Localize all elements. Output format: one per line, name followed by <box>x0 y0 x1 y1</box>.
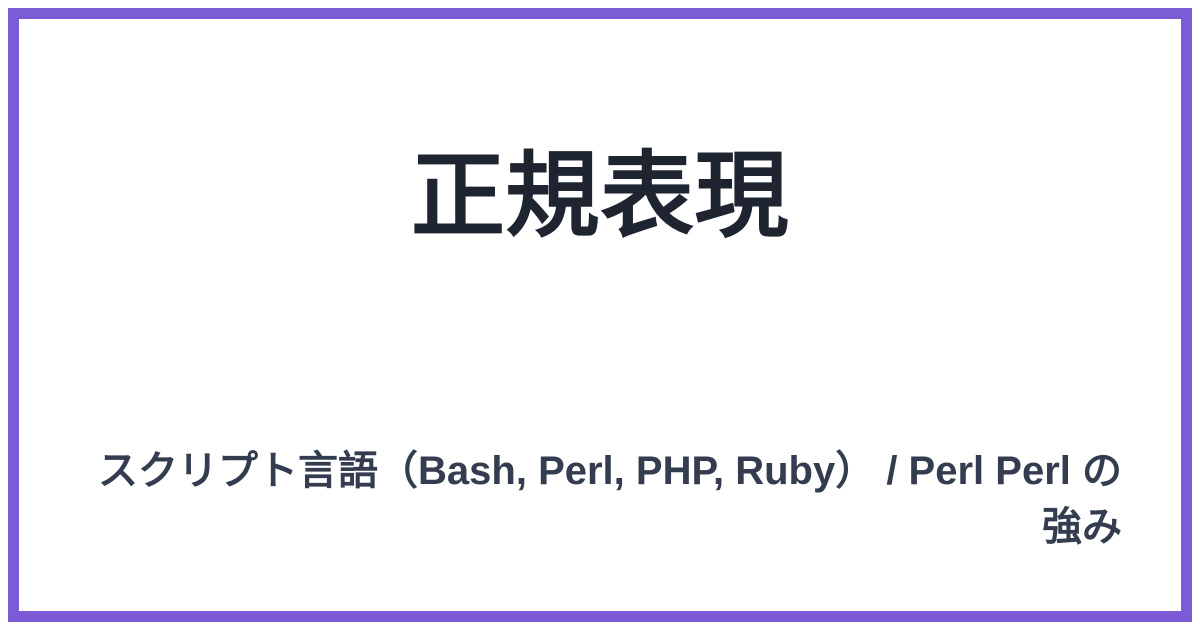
subtitle-row: スクリプト言語（Bash, Perl, PHP, Ruby） / Perl Pe… <box>78 403 1122 597</box>
page-subtitle: スクリプト言語（Bash, Perl, PHP, Ruby） / Perl Pe… <box>78 443 1122 557</box>
card-content: 正規表現 スクリプト言語（Bash, Perl, PHP, Ruby） / Pe… <box>0 0 1200 630</box>
slide-card: 正規表現 スクリプト言語（Bash, Perl, PHP, Ruby） / Pe… <box>0 0 1200 630</box>
title-row: 正規表現 <box>78 78 1122 315</box>
page-title: 正規表現 <box>411 141 789 252</box>
